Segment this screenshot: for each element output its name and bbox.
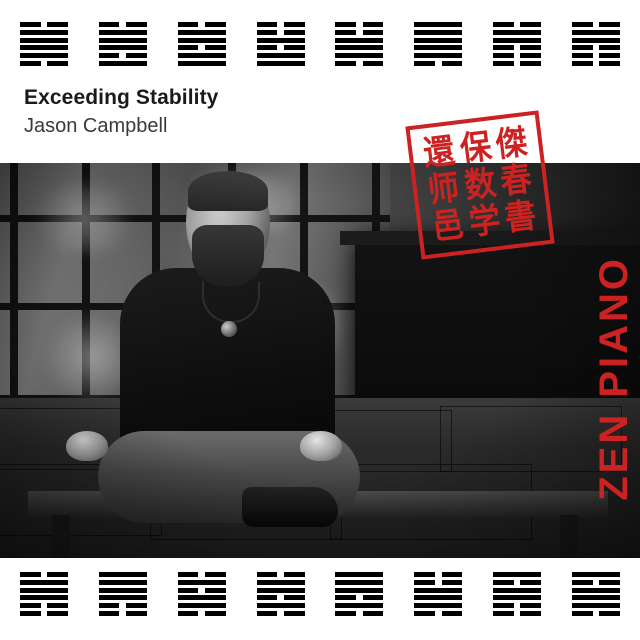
hexagram-line-broken [257,22,305,27]
hexagram-line-solid [572,38,620,43]
hexagram-8 [572,22,620,66]
hexagram-4 [257,22,305,66]
hexagram-line-solid [178,603,226,608]
hexagram-line-broken [572,61,620,66]
hexagram-line-broken [414,572,462,577]
hexagram-line-broken [20,611,68,616]
hexagram-line-solid [335,38,383,43]
hexagram-line-solid [178,580,226,585]
hexagram-line-solid [335,45,383,50]
hexagram-line-broken [493,53,541,58]
hexagram-line-solid [335,572,383,577]
hexagram-6 [414,22,462,66]
hexagram-15 [493,572,541,616]
hexagram-line-solid [414,30,462,35]
title-block: Exceeding Stability Jason Campbell [24,86,218,138]
hexagram-line-solid [257,588,305,593]
hexagram-line-solid [414,22,462,27]
hexagram-2 [99,22,147,66]
hexagram-line-solid [99,30,147,35]
hexagram-line-broken [335,61,383,66]
hexagram-line-broken [20,61,68,66]
hexagram-line-solid [335,53,383,58]
hexagram-line-solid [20,580,68,585]
hexagram-line-solid [414,588,462,593]
hexagram-line-solid [572,588,620,593]
hexagram-line-broken [178,45,226,50]
series-label: ZEN PIANO [594,256,634,501]
hexagram-line-broken [493,580,541,585]
hexagram-line-solid [20,595,68,600]
hexagram-line-solid [20,588,68,593]
hexagram-line-broken [572,580,620,585]
hexagram-line-solid [20,38,68,43]
hexagram-5 [335,22,383,66]
hexagram-line-solid [20,53,68,58]
hexagram-line-solid [178,30,226,35]
hexagram-line-solid [572,572,620,577]
hexagram-line-solid [20,45,68,50]
hexagram-line-solid [257,603,305,608]
seal-glyph-9: 書 [502,197,540,238]
album-cover: Exceeding Stability Jason Campbell [0,0,640,640]
hexagram-line-broken [99,53,147,58]
hexagram-line-solid [493,30,541,35]
hexagram-line-solid [335,580,383,585]
hexagram-line-broken [20,603,68,608]
hexagram-line-broken [178,588,226,593]
hexagram-line-broken [178,611,226,616]
hexagram-row-top [0,22,640,66]
hexagram-line-solid [178,595,226,600]
hexagram-14 [414,572,462,616]
seal-glyph-7: 邑 [429,206,467,247]
hexagram-line-solid [99,595,147,600]
hexagram-line-solid [178,53,226,58]
hexagram-line-broken [493,22,541,27]
hexagram-line-broken [257,572,305,577]
hexagram-line-broken [20,572,68,577]
hexagram-line-solid [99,38,147,43]
hexagram-line-solid [572,603,620,608]
hexagram-line-broken [99,603,147,608]
hexagram-row-bottom [0,572,640,616]
hexagram-line-broken [257,30,305,35]
hexagram-line-broken [414,580,462,585]
hexagram-line-solid [414,38,462,43]
hexagram-line-solid [99,45,147,50]
seal-glyph-grid: 還保傑师数春邑学書 [419,124,542,247]
hexagram-line-solid [572,595,620,600]
hexagram-line-broken [20,22,68,27]
hexagram-line-broken [335,22,383,27]
hexagram-12 [257,572,305,616]
hexagram-13 [335,572,383,616]
hexagram-line-broken [414,61,462,66]
hexagram-1 [20,22,68,66]
page-title: Exceeding Stability [24,86,218,110]
hexagram-line-solid [257,61,305,66]
hexagram-line-solid [493,588,541,593]
hexagram-line-broken [335,30,383,35]
hexagram-line-solid [414,595,462,600]
hexagram-line-solid [335,588,383,593]
hexagram-line-solid [414,45,462,50]
hexagram-line-broken [572,611,620,616]
hexagram-line-solid [257,580,305,585]
seal-glyph-8: 学 [465,201,503,242]
hexagram-line-broken [572,22,620,27]
hexagram-line-solid [414,603,462,608]
hexagram-9 [20,572,68,616]
hexagram-line-solid [99,580,147,585]
hexagram-line-broken [99,611,147,616]
red-chinese-seal-stamp: 還保傑师数春邑学書 [405,110,554,259]
hexagram-line-solid [178,61,226,66]
hexagram-line-broken [414,611,462,616]
hexagram-line-broken [257,45,305,50]
hexagram-16 [572,572,620,616]
hexagram-line-solid [178,38,226,43]
hexagram-line-solid [20,30,68,35]
artist-name: Jason Campbell [24,114,218,138]
hexagram-line-solid [493,38,541,43]
hexagram-line-broken [335,595,383,600]
hexagram-line-solid [257,53,305,58]
hexagram-line-solid [99,61,147,66]
hexagram-line-broken [493,603,541,608]
hexagram-7 [493,22,541,66]
hexagram-line-broken [178,22,226,27]
hexagram-line-broken [335,611,383,616]
hexagram-line-solid [99,588,147,593]
hexagram-line-broken [493,611,541,616]
hexagram-line-solid [493,595,541,600]
hexagram-line-broken [572,53,620,58]
hexagram-line-solid [493,572,541,577]
hexagram-line-broken [493,45,541,50]
hexagram-line-solid [99,572,147,577]
hexagram-line-solid [335,603,383,608]
hexagram-line-broken [257,595,305,600]
hexagram-3 [178,22,226,66]
hexagram-line-broken [99,22,147,27]
hexagram-line-broken [178,572,226,577]
hexagram-10 [99,572,147,616]
hexagram-line-solid [572,30,620,35]
hexagram-line-broken [493,61,541,66]
hexagram-11 [178,572,226,616]
hexagram-line-solid [257,38,305,43]
hexagram-line-broken [572,45,620,50]
hexagram-line-broken [257,611,305,616]
hexagram-line-solid [414,53,462,58]
